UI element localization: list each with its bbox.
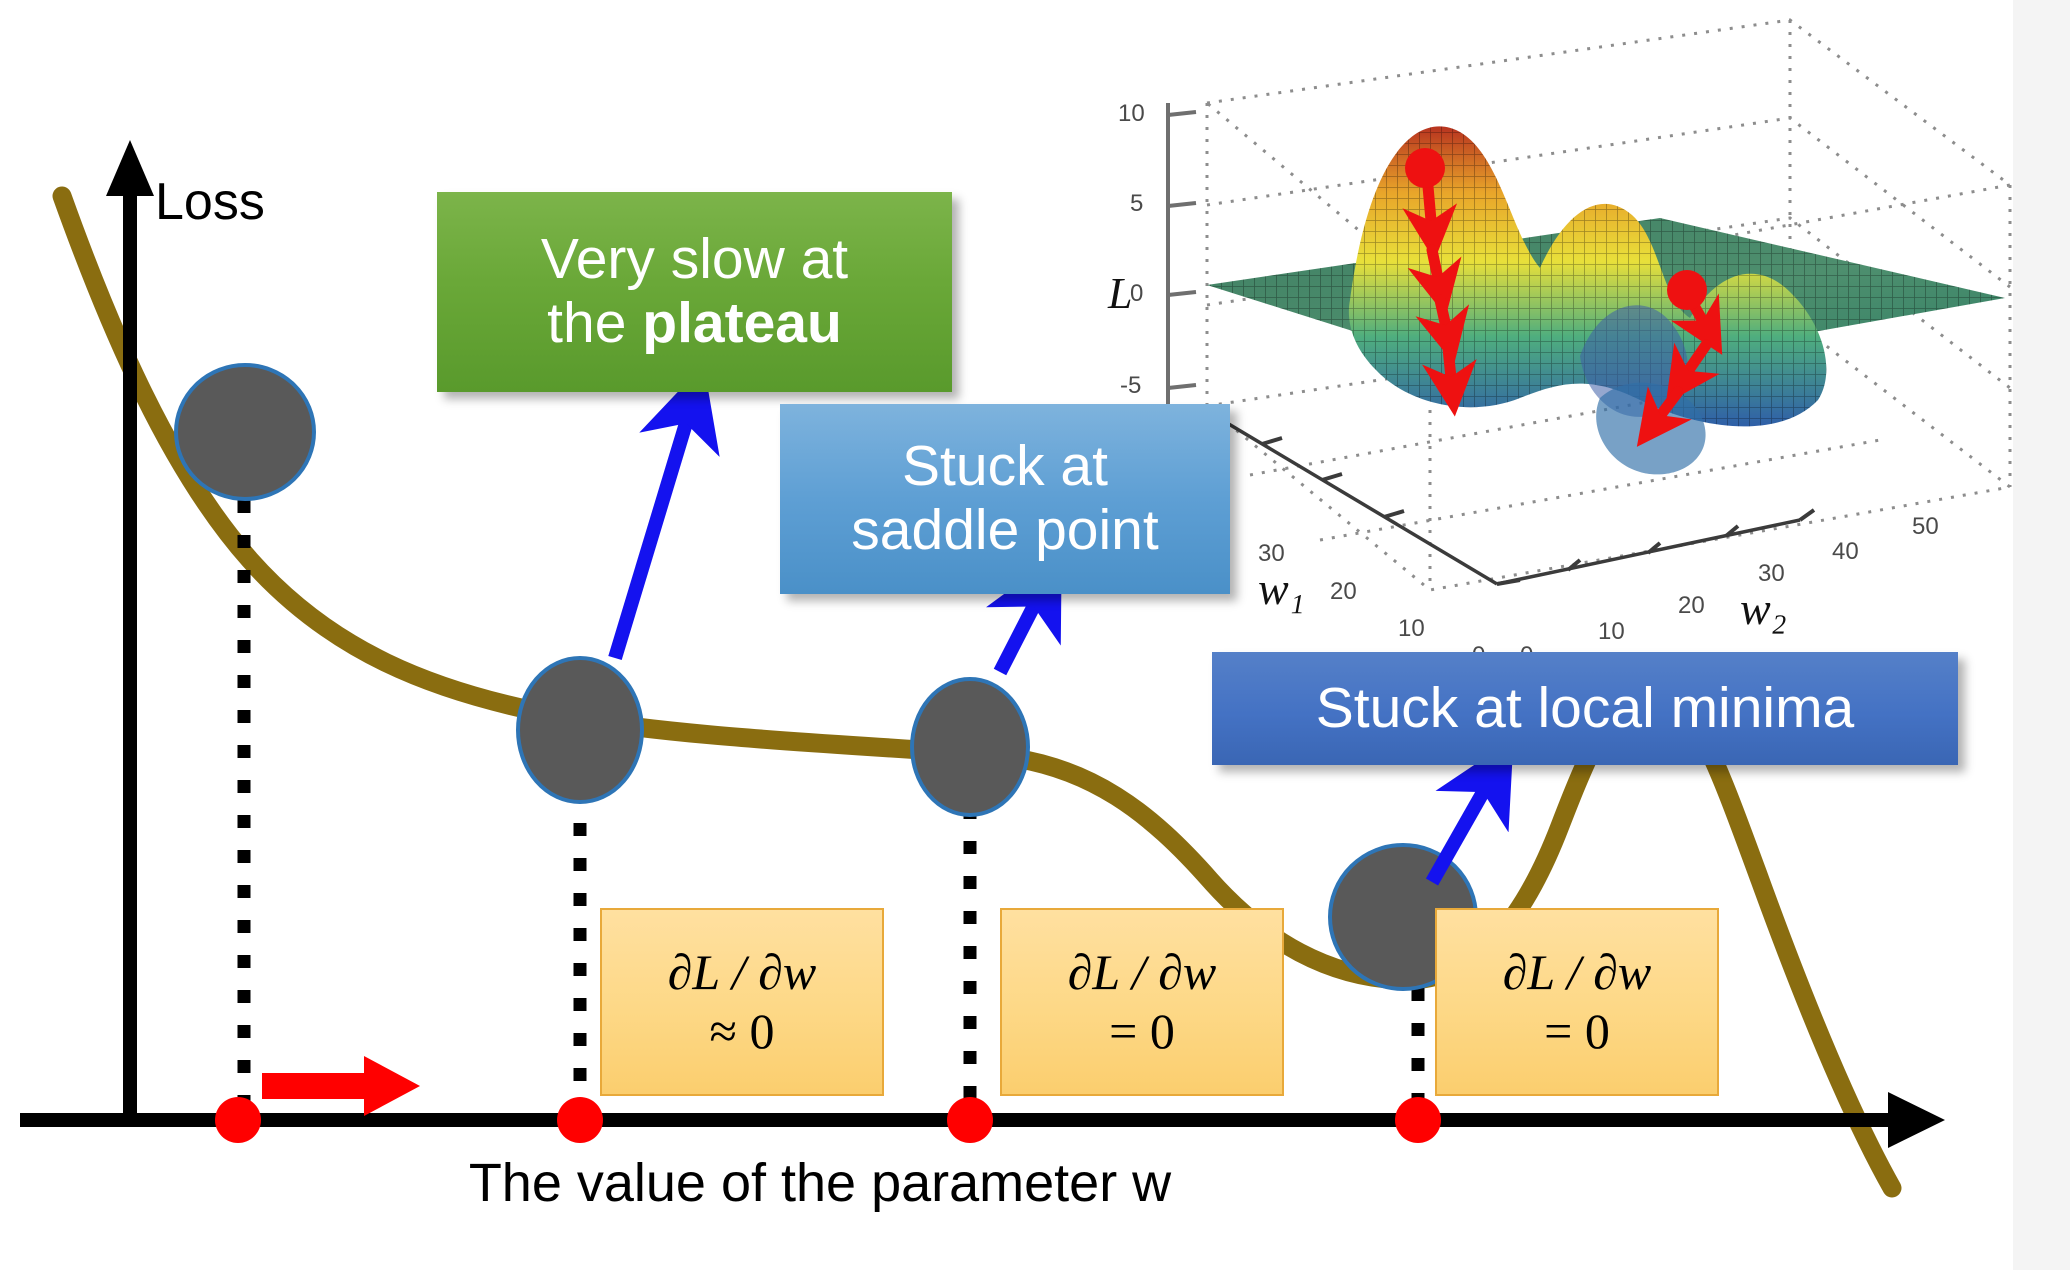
surface-y-axis-label: w₂ xyxy=(1740,582,1787,635)
w2-tick-20: 20 xyxy=(1678,592,1705,620)
callout-saddle-line2: saddle point xyxy=(851,498,1158,562)
w2-tick-50: 50 xyxy=(1912,513,1939,541)
z-tick-neg5: -5 xyxy=(1120,372,1141,400)
formula-box-plateau-gradient: ∂L / ∂w ≈ 0 xyxy=(600,908,884,1096)
ball-plateau xyxy=(518,658,642,802)
z-tick-0: 0 xyxy=(1130,280,1143,308)
y-axis xyxy=(106,140,154,1120)
w2-tick-40: 40 xyxy=(1832,538,1859,566)
w2-tick-10: 10 xyxy=(1598,618,1625,646)
formula-relation: ≈ 0 xyxy=(710,1002,775,1061)
w1-tick-20: 20 xyxy=(1330,578,1357,606)
arrow-to-plateau-ball xyxy=(615,410,690,658)
formula-box-saddle-gradient: ∂L / ∂w = 0 xyxy=(1000,908,1284,1096)
callout-localmin-line1: Stuck at local minima xyxy=(1316,677,1855,741)
surface-x-axis-label: w₁ xyxy=(1258,562,1305,615)
slide-canvas: L w₁ w₂ 10 5 0 -5 30 20 10 0 0 10 20 30 … xyxy=(0,0,2070,1270)
axis-dot xyxy=(215,1097,261,1143)
ball-start xyxy=(176,365,314,499)
formula-numerator: ∂L / ∂w xyxy=(1068,943,1217,1002)
w1-tick-30: 30 xyxy=(1258,540,1285,568)
callout-saddle-line1: Stuck at xyxy=(902,434,1108,498)
z-tick-5: 5 xyxy=(1130,190,1143,218)
ball-saddle xyxy=(912,679,1028,815)
w2-tick-30: 30 xyxy=(1758,560,1785,588)
callout-plateau[interactable]: Very slow at the plateau xyxy=(437,192,952,392)
formula-relation: = 0 xyxy=(1544,1002,1610,1061)
callout-plateau-line2-prefix: the xyxy=(547,291,642,355)
formula-numerator: ∂L / ∂w xyxy=(668,943,817,1002)
axis-dot xyxy=(1395,1097,1441,1143)
y-axis-label: Loss xyxy=(155,172,265,232)
axis-dot xyxy=(557,1097,603,1143)
callout-local-minima[interactable]: Stuck at local minima xyxy=(1212,652,1958,765)
surface-z-axis-label: L xyxy=(1108,268,1132,319)
w1-tick-10: 10 xyxy=(1398,615,1425,643)
callout-plateau-line1: Very slow at xyxy=(541,227,848,291)
formula-numerator: ∂L / ∂w xyxy=(1503,943,1652,1002)
axis-dot xyxy=(947,1097,993,1143)
x-axis-caption: The value of the parameter w xyxy=(0,1152,1640,1214)
formula-relation: = 0 xyxy=(1109,1002,1175,1061)
formula-box-localmin-gradient: ∂L / ∂w = 0 xyxy=(1435,908,1719,1096)
callout-plateau-line2-bold: plateau xyxy=(642,291,842,355)
arrow-to-localmin-ball xyxy=(1432,780,1490,882)
callout-saddle-point[interactable]: Stuck at saddle point xyxy=(780,404,1230,594)
arrow-to-saddle-ball xyxy=(1000,594,1040,672)
step-arrow-icon xyxy=(262,1056,420,1116)
z-tick-10: 10 xyxy=(1118,100,1145,128)
right-side-panel xyxy=(2013,0,2070,1270)
